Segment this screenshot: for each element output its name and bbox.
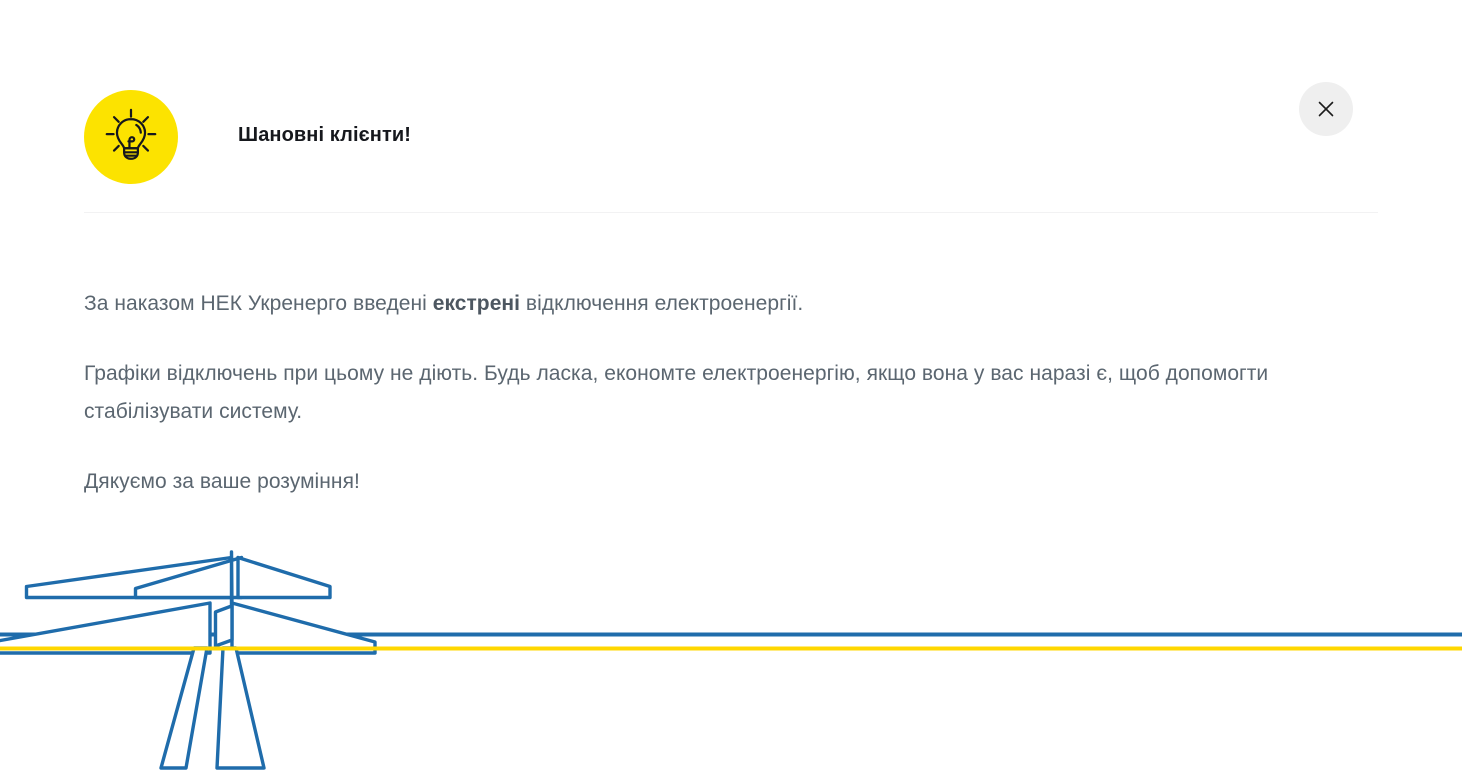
notice-paragraph-1: За наказом НЕК Укренерго введені екстрен… — [84, 285, 1384, 323]
lightbulb-icon — [84, 90, 178, 184]
notice-paragraph-2: Графіки відключень при цьому не діють. Б… — [84, 355, 1349, 431]
notice-header: Шановні клієнти! — [0, 0, 1462, 212]
paragraph-text: За наказом НЕК Укренерго введені — [84, 292, 433, 315]
paragraph-text: Графіки відключень при цьому не діють. Б… — [84, 362, 1268, 423]
footer-artwork — [0, 540, 1462, 773]
close-button[interactable] — [1299, 82, 1353, 136]
close-icon — [1316, 99, 1336, 119]
notice-paragraph-3: Дякуємо за ваше розуміння! — [84, 463, 1384, 501]
emphasis-text: екстрені — [433, 292, 520, 315]
page-title: Шановні клієнти! — [238, 120, 1138, 150]
paragraph-text: Дякуємо за ваше розуміння! — [84, 470, 360, 493]
notice-body: За наказом НЕК Укренерго введені екстрен… — [84, 285, 1384, 501]
notice-modal: Шановні клієнти! За наказом НЕК Укренерг… — [0, 0, 1462, 773]
electricity-pylon-icon — [0, 552, 375, 768]
header-divider — [84, 212, 1378, 213]
paragraph-text: відключення електроенергії. — [520, 292, 803, 315]
